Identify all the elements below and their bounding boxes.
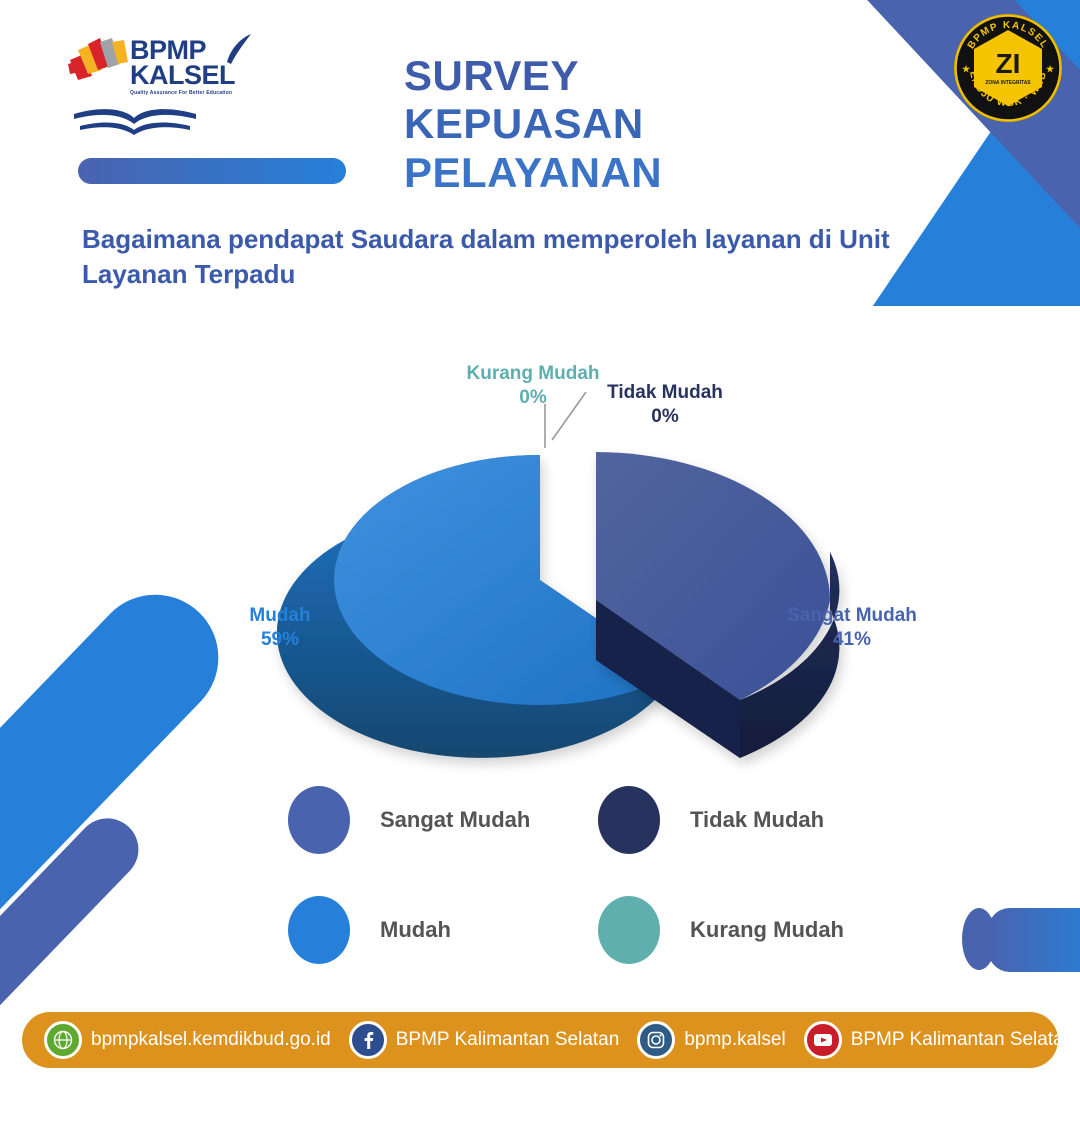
pie-label-mudah-name: Mudah [249, 605, 310, 626]
pie-label-tidak-mudah: Tidak Mudah 0% [570, 381, 760, 429]
footer-text-website: bpmpkalsel.kemdikbud.go.id [91, 1029, 331, 1051]
globe-icon[interactable] [44, 1021, 82, 1059]
footer-item-instagram[interactable]: bpmp.kalsel [637, 1021, 785, 1059]
footer-item-youtube[interactable]: BPMP Kalimantan Selatan [804, 1021, 1075, 1059]
legend-swatch-sangat-mudah [288, 786, 350, 854]
legend-item-tidak-mudah: Tidak Mudah [598, 786, 908, 854]
facebook-icon[interactable] [349, 1021, 387, 1059]
legend-swatch-tidak-mudah [598, 786, 660, 854]
footer-social-bar: bpmpkalsel.kemdikbud.go.id BPMP Kalimant… [22, 1012, 1058, 1068]
instagram-icon[interactable] [637, 1021, 675, 1059]
footer-item-facebook[interactable]: BPMP Kalimantan Selatan [349, 1021, 620, 1059]
legend-item-kurang-mudah: Kurang Mudah [598, 896, 908, 964]
pie-label-sangat-mudah-percent: 41% [833, 629, 871, 650]
legend-label-tidak-mudah: Tidak Mudah [690, 807, 824, 833]
pie-label-sangat-mudah: Sangat Mudah 41% [762, 604, 942, 652]
footer-item-website[interactable]: bpmpkalsel.kemdikbud.go.id [44, 1021, 331, 1059]
youtube-icon[interactable] [804, 1021, 842, 1059]
legend-item-mudah: Mudah [288, 896, 598, 964]
legend-item-sangat-mudah: Sangat Mudah [288, 786, 598, 854]
pie-label-sangat-mudah-name: Sangat Mudah [787, 605, 917, 626]
legend-swatch-mudah [288, 896, 350, 964]
footer-text-facebook: BPMP Kalimantan Selatan [396, 1029, 620, 1051]
pie-label-mudah: Mudah 59% [210, 604, 350, 652]
footer-text-youtube: BPMP Kalimantan Selatan [851, 1029, 1075, 1051]
pie-label-tidak-mudah-name: Tidak Mudah [607, 382, 723, 403]
legend-label-sangat-mudah: Sangat Mudah [380, 807, 530, 833]
pie-label-kurang-mudah-percent: 0% [519, 387, 546, 408]
legend-label-kurang-mudah: Kurang Mudah [690, 917, 844, 943]
footer-text-instagram: bpmp.kalsel [684, 1029, 785, 1051]
legend-swatch-kurang-mudah [598, 896, 660, 964]
pie-label-tidak-mudah-percent: 0% [651, 406, 678, 427]
legend-label-mudah: Mudah [380, 917, 451, 943]
pie-label-mudah-percent: 59% [261, 629, 299, 650]
chart-legend: Sangat Mudah Tidak Mudah Mudah Kurang Mu… [288, 786, 908, 964]
